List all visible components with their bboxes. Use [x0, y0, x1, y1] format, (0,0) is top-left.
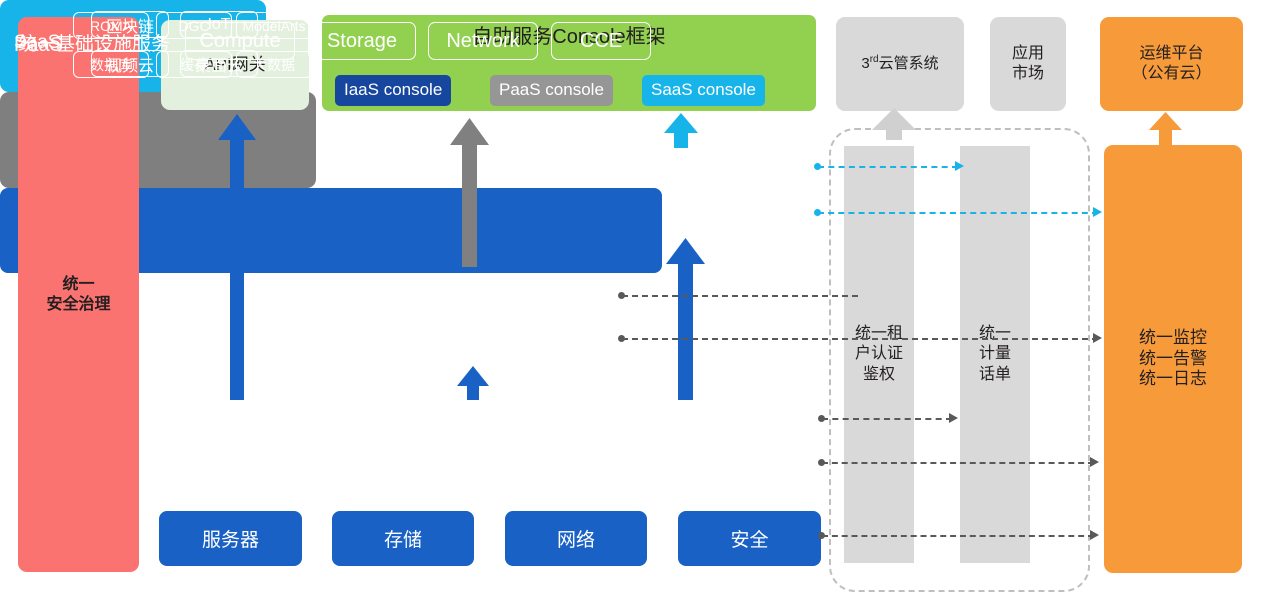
- app-market-line1: 应用: [1012, 44, 1044, 64]
- paas-console-chip[interactable]: PaaS console: [490, 75, 613, 106]
- connector-infra-to-ops: [822, 462, 1094, 464]
- metering-line2: 计量: [979, 344, 1011, 364]
- ops-capability-alarm: 统一告警: [1139, 349, 1207, 370]
- hardware-servers-box[interactable]: 服务器: [159, 511, 302, 566]
- architecture-diagram: 统一 安全治理 API网关 自助服务Console框架 IaaS console…: [0, 0, 1265, 605]
- third-party-suffix: 云管系统: [879, 55, 939, 72]
- shared-service-tenant-auth[interactable]: 统一租 户认证 鉴权: [844, 146, 914, 563]
- security-governance-line2: 安全治理: [46, 295, 110, 315]
- tenant-auth-line2: 户认证: [855, 344, 903, 364]
- ops-platform-line1: 运维平台: [1131, 44, 1211, 64]
- ops-capability-monitoring: 统一监控: [1139, 328, 1207, 349]
- infrastructure-layer-label: 统一基础设施服务: [18, 29, 170, 56]
- security-governance-panel[interactable]: 统一 安全治理: [18, 17, 139, 572]
- hardware-network-box[interactable]: 网络: [505, 511, 647, 566]
- tenant-auth-line3: 鉴权: [855, 365, 903, 385]
- ops-platform-line2: （公有云）: [1131, 64, 1211, 84]
- arrow-ops-body-to-ops-platform: [1149, 112, 1182, 145]
- connector-paas-to-tenant-auth: [622, 295, 858, 297]
- connector-arrowhead-infra-auth: [949, 413, 958, 423]
- third-party-prefix: 3: [861, 55, 869, 72]
- third-party-cloud-mgmt-box[interactable]: 3rd云管系统: [836, 17, 964, 111]
- connector-saas-to-ops: [818, 212, 1098, 214]
- hardware-security-box[interactable]: 安全: [678, 511, 821, 566]
- arrow-saas-to-console: [664, 113, 698, 148]
- connector-arrowhead-saas-ops: [1093, 207, 1102, 217]
- metering-line3: 话单: [979, 365, 1011, 385]
- metering-line1: 统一: [979, 324, 1011, 344]
- tenant-auth-line1: 统一租: [855, 324, 903, 344]
- connector-infra-to-tenant-auth: [822, 418, 952, 420]
- connector-arrowhead-infra-ops: [1090, 457, 1099, 467]
- security-governance-line1: 统一: [46, 275, 110, 295]
- infra-service-network[interactable]: Network: [428, 22, 538, 60]
- arrow-infra-to-paas: [457, 366, 489, 400]
- saas-console-chip[interactable]: SaaS console: [642, 75, 765, 106]
- infra-service-cce[interactable]: CCE: [551, 22, 651, 60]
- third-party-ordinal-suffix: rd: [870, 54, 879, 65]
- ops-capability-logging: 统一日志: [1139, 369, 1207, 390]
- connector-hardware-to-ops: [822, 535, 1094, 537]
- connector-arrowhead-saas-auth: [955, 161, 964, 171]
- connector-arrowhead-paas-ops: [1093, 333, 1102, 343]
- ops-platform-box[interactable]: 运维平台 （公有云）: [1100, 17, 1243, 111]
- connector-arrowhead-hardware-ops: [1090, 530, 1099, 540]
- infra-service-storage[interactable]: Storage: [308, 22, 416, 60]
- shared-service-metering-billing[interactable]: 统一 计量 话单: [960, 146, 1030, 563]
- arrow-infra-to-saas: [666, 238, 705, 400]
- connector-saas-to-tenant-auth: [818, 166, 958, 168]
- infra-service-compute[interactable]: Compute: [185, 22, 295, 60]
- app-market-box[interactable]: 应用 市场: [990, 17, 1066, 111]
- ops-capabilities-panel[interactable]: 统一监控 统一告警 统一日志: [1104, 145, 1242, 573]
- app-market-line2: 市场: [1012, 64, 1044, 84]
- connector-paas-to-ops: [622, 338, 1098, 340]
- hardware-storage-box[interactable]: 存储: [332, 511, 474, 566]
- iaas-console-chip[interactable]: IaaS console: [335, 75, 451, 106]
